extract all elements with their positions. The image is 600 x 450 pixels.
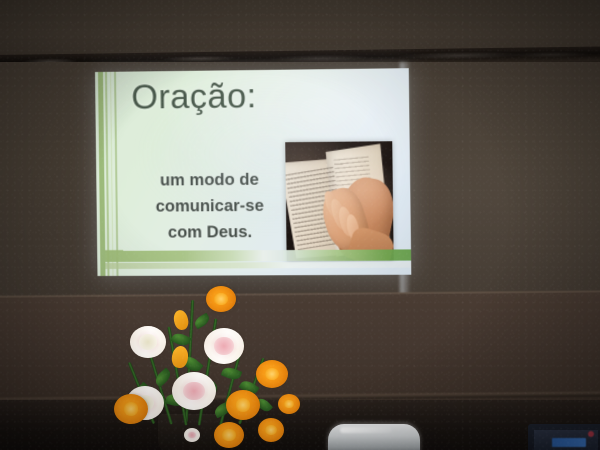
slide-vignette [95, 68, 411, 276]
orange-rose [256, 360, 288, 388]
orange-rose [258, 418, 284, 442]
white-rose [184, 428, 200, 442]
orange-rose [278, 394, 300, 414]
rose-center [236, 398, 251, 411]
rose-center [222, 429, 235, 440]
projected-slide-photo: Oração: um modo de comunicar-se com Deus… [0, 0, 600, 450]
rose-bud [172, 309, 190, 331]
rose-center [284, 400, 294, 409]
flower-bouquet [110, 282, 340, 450]
white-rose [172, 372, 216, 410]
rose-center [214, 293, 227, 304]
rose-center [214, 337, 233, 354]
orange-rose [206, 286, 236, 312]
rose-center [183, 382, 204, 400]
small-display-device [528, 424, 600, 450]
orange-rose [114, 394, 148, 424]
orange-rose [214, 422, 244, 448]
display-indicator-light [588, 431, 594, 437]
rose-center [188, 432, 196, 439]
rose-center [265, 368, 279, 380]
rose-center [124, 402, 139, 415]
leaf [193, 313, 212, 330]
white-rose [130, 326, 166, 358]
projected-slide: Oração: um modo de comunicar-se com Deus… [95, 68, 411, 276]
display-badge [552, 438, 586, 447]
rose-center [265, 425, 276, 436]
white-rose [204, 328, 244, 364]
orange-rose [226, 390, 260, 420]
white-object-highlight [340, 427, 392, 433]
rose-center [139, 334, 156, 349]
